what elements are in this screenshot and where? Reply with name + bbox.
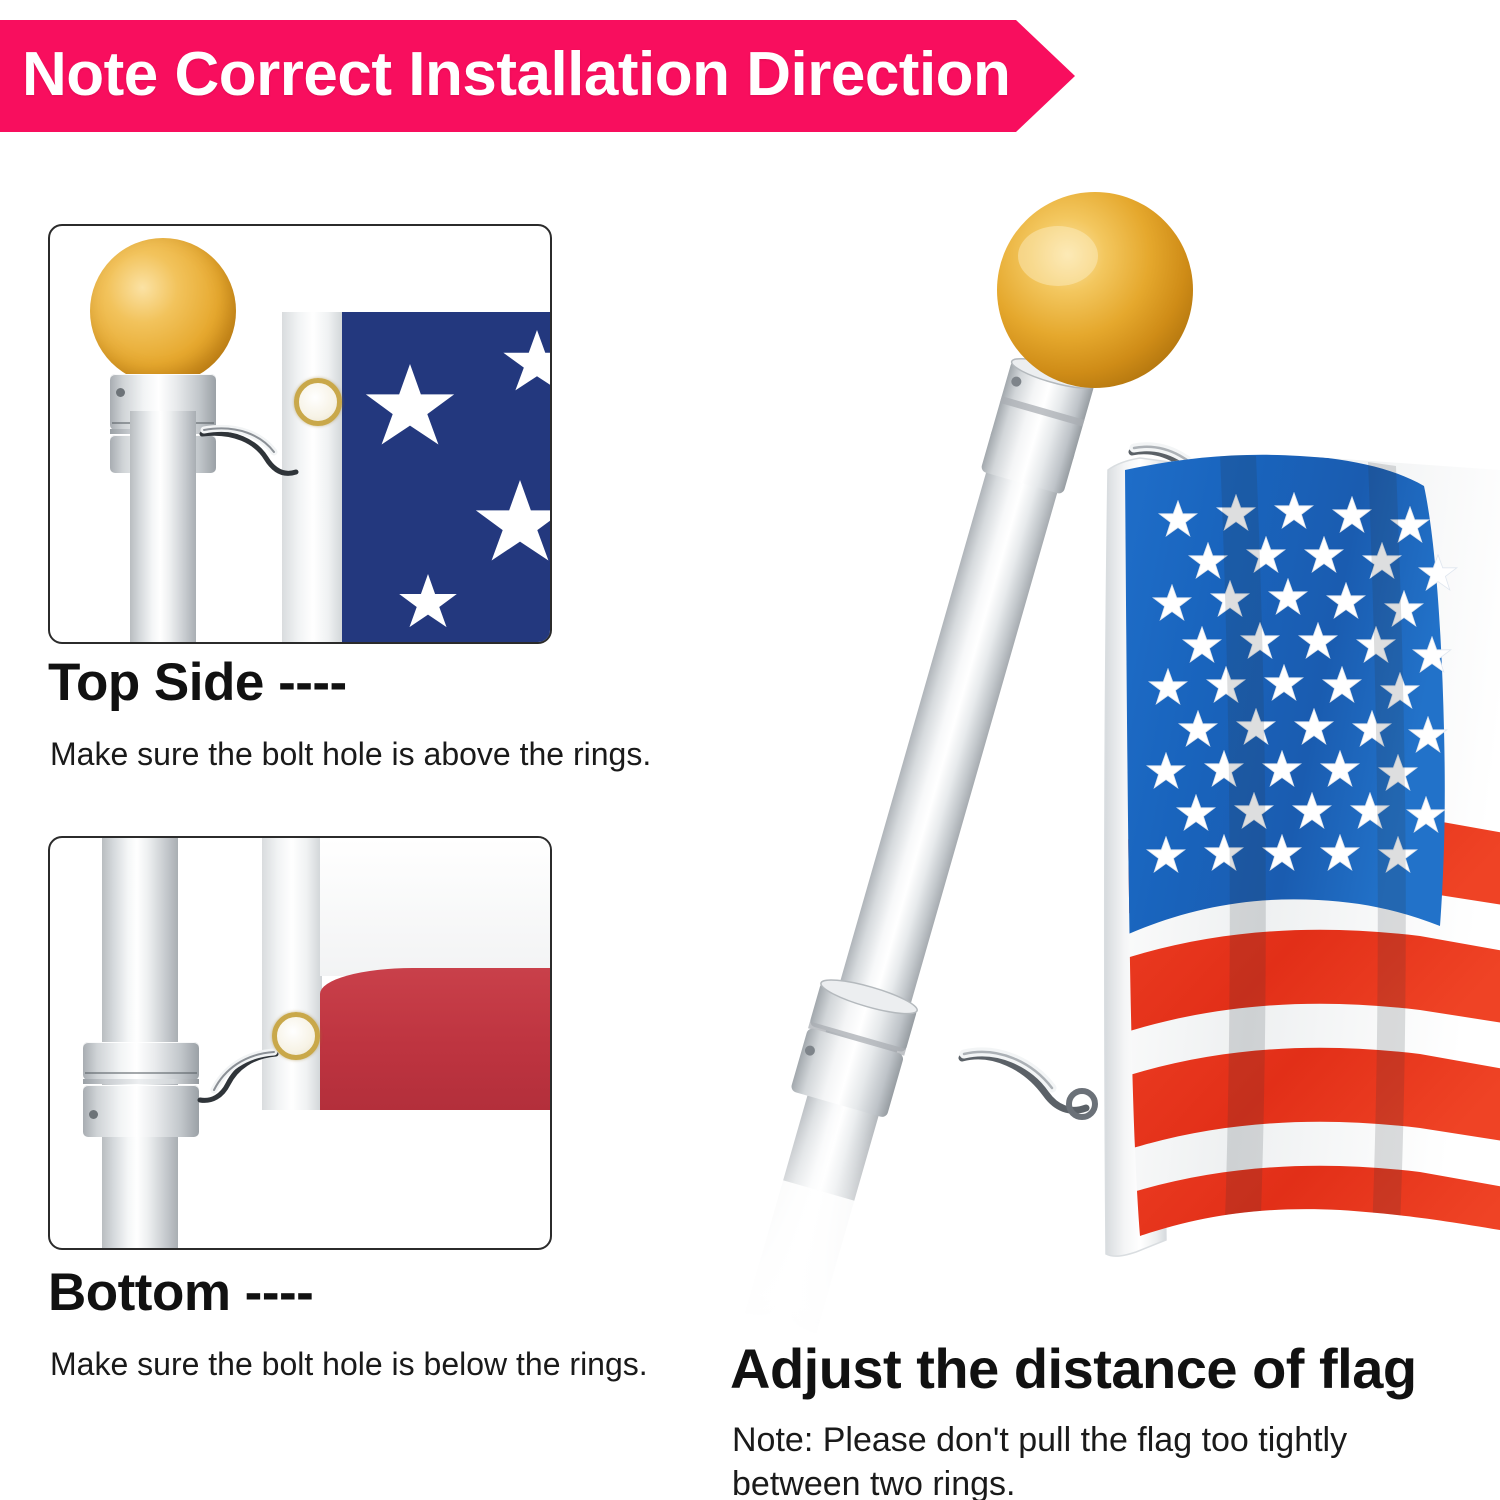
header-banner: Note Correct Installation Direction [0,20,1075,132]
product-instruction-image: Note Correct Installation Direction [0,0,1500,1500]
caption-title-main: Adjust the distance of flag [730,1336,1417,1401]
snap-hook-icon-bottom [962,1052,1095,1117]
main-product-illustration [700,170,1500,1360]
flag-star [474,480,552,568]
flag-grommet [294,378,342,426]
flag-star [398,574,458,632]
detail-panel-top-side [48,224,552,644]
flag-grommet [272,1012,320,1060]
flag-blue-field [342,312,552,642]
banner-title: Note Correct Installation Direction [22,39,1010,110]
flagpole-shaft [130,411,196,644]
flag-star [364,364,456,452]
detail-panel-bottom [48,836,552,1250]
caption-title-top-side: Top Side ---- [48,652,347,713]
flag-red-stripe [320,968,552,1110]
caption-title-bottom: Bottom ---- [48,1262,313,1323]
caption-body-top-side: Make sure the bolt hole is above the rin… [50,734,710,776]
snap-hook-icon [200,416,330,496]
caption-body-bottom: Make sure the bolt hole is below the rin… [50,1344,710,1386]
flag-white-stripe [320,838,552,976]
bolt-hole [116,388,125,397]
caption-body-main: Note: Please don't pull the flag too tig… [732,1418,1392,1500]
gold-ball-finial-icon [997,192,1193,388]
bolt-hole [89,1110,98,1119]
snap-hook-icon [180,1050,310,1130]
flag-star [502,330,552,396]
american-flag [1120,450,1500,1270]
gold-ball-finial-icon [90,238,236,384]
